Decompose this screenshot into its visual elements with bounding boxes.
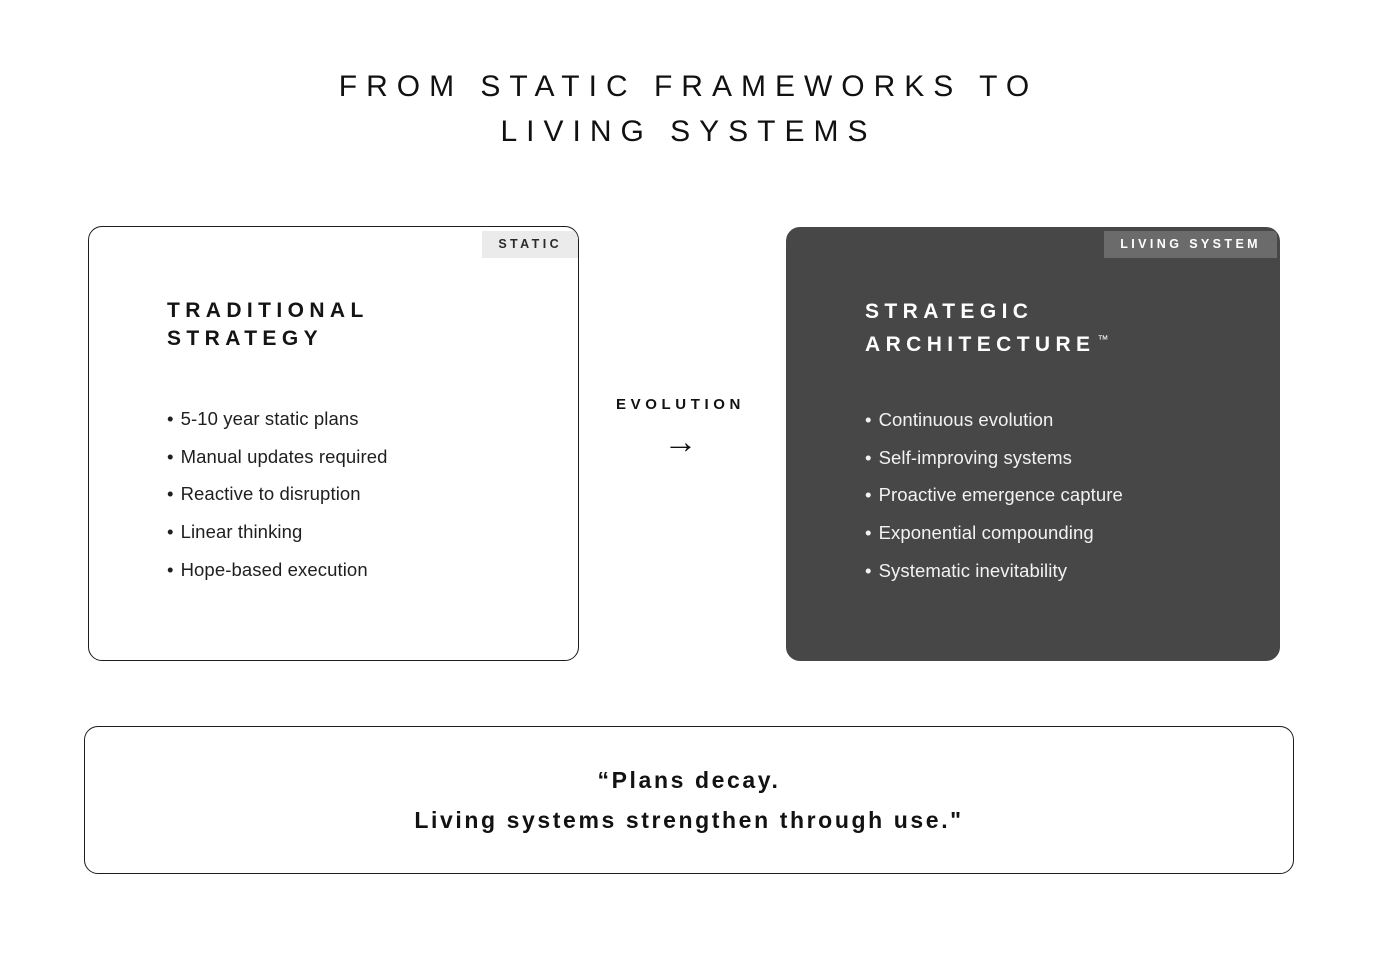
list-item-label: Continuous evolution <box>879 409 1054 430</box>
bullet-marker-icon: • <box>167 408 174 429</box>
list-item: •Systematic inevitability <box>865 552 1123 590</box>
list-item-label: Reactive to disruption <box>181 483 361 504</box>
quote-box: “Plans decay. Living systems strengthen … <box>84 726 1294 874</box>
list-item: •Exponential compounding <box>865 514 1123 552</box>
trademark-icon: ™ <box>1097 334 1108 346</box>
card-heading-strategic-architecture: STRATEGIC ARCHITECTURE™ <box>865 298 1108 359</box>
list-item: •5-10 year static plans <box>167 400 388 438</box>
card-traditional-strategy: STATIC TRADITIONAL STRATEGY •5-10 year s… <box>88 226 579 661</box>
card-strategic-architecture: LIVING SYSTEM STRATEGIC ARCHITECTURE™ •C… <box>786 227 1280 661</box>
page-title: FROM STATIC FRAMEWORKS TO LIVING SYSTEMS <box>0 64 1377 154</box>
status-badge-static: STATIC <box>482 231 578 258</box>
list-item: •Proactive emergence capture <box>865 476 1123 514</box>
bullet-marker-icon: • <box>167 521 174 542</box>
card-heading-traditional-strategy: TRADITIONAL STRATEGY <box>167 297 369 353</box>
evolution-label: EVOLUTION <box>588 396 773 413</box>
list-item: •Continuous evolution <box>865 401 1123 439</box>
evolution-connector: EVOLUTION → <box>588 396 773 459</box>
list-item-label: Linear thinking <box>181 521 303 542</box>
list-item: •Self-improving systems <box>865 439 1123 477</box>
bullet-list-strategic-architecture: •Continuous evolution •Self-improving sy… <box>865 401 1123 590</box>
bullet-marker-icon: • <box>865 484 872 505</box>
list-item-label: Manual updates required <box>181 446 388 467</box>
list-item: •Manual updates required <box>167 438 388 476</box>
list-item-label: Proactive emergence capture <box>879 484 1123 505</box>
arrow-right-icon: → <box>588 425 773 459</box>
quote-text: “Plans decay. Living systems strengthen … <box>414 760 963 840</box>
list-item-label: Systematic inevitability <box>879 560 1068 581</box>
status-badge-living-system: LIVING SYSTEM <box>1104 231 1277 258</box>
bullet-marker-icon: • <box>167 483 174 504</box>
bullet-marker-icon: • <box>865 447 872 468</box>
list-item-label: Hope-based execution <box>181 559 368 580</box>
list-item-label: 5-10 year static plans <box>181 408 359 429</box>
bullet-marker-icon: • <box>865 560 872 581</box>
bullet-marker-icon: • <box>865 522 872 543</box>
bullet-list-traditional-strategy: •5-10 year static plans •Manual updates … <box>167 400 388 589</box>
bullet-marker-icon: • <box>167 446 174 467</box>
card-heading-text: STRATEGIC ARCHITECTURE <box>865 300 1095 356</box>
bullet-marker-icon: • <box>865 409 872 430</box>
list-item: •Hope-based execution <box>167 551 388 589</box>
list-item-label: Self-improving systems <box>879 447 1072 468</box>
list-item-label: Exponential compounding <box>879 522 1094 543</box>
bullet-marker-icon: • <box>167 559 174 580</box>
list-item: •Reactive to disruption <box>167 475 388 513</box>
list-item: •Linear thinking <box>167 513 388 551</box>
